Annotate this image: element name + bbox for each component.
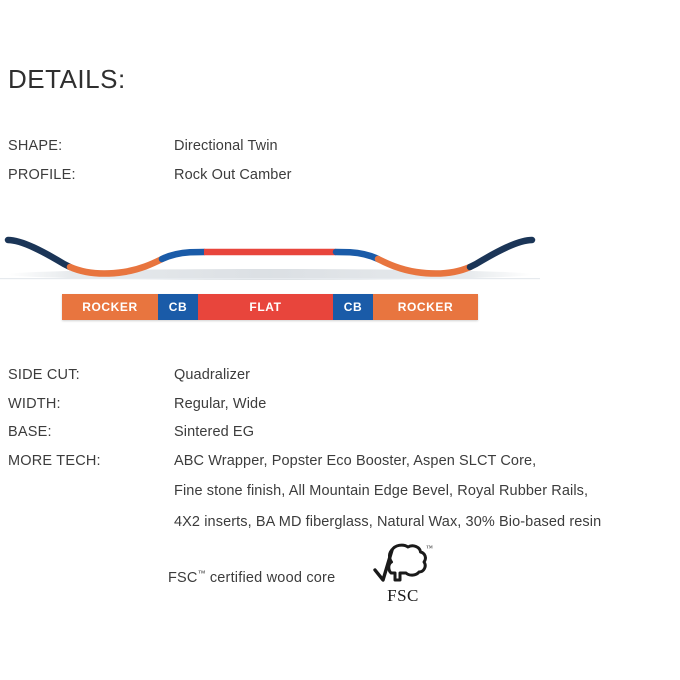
spec-label-shape: SHAPE:	[8, 137, 174, 157]
fsc-logo: ™ FSC	[371, 542, 435, 606]
more-tech-line-1: ABC Wrapper, Popster Eco Booster, Aspen …	[174, 452, 601, 472]
spec-value-more-tech: ABC Wrapper, Popster Eco Booster, Aspen …	[174, 452, 601, 533]
spec-row-profile: PROFILE: Rock Out Camber	[8, 166, 668, 186]
spec-row-side-cut: SIDE CUT: Quadralizer	[8, 366, 678, 386]
fsc-logo-trademark: ™	[426, 544, 433, 552]
spec-list-bottom: SIDE CUT: Quadralizer WIDTH: Regular, Wi…	[8, 366, 678, 541]
legend-segment-rocker-left: ROCKER	[62, 294, 158, 320]
board-profile-graphic	[0, 212, 540, 292]
more-tech-line-2: Fine stone finish, All Mountain Edge Bev…	[174, 482, 601, 502]
spec-value-base: Sintered EG	[174, 423, 254, 443]
trademark-symbol: ™	[198, 569, 206, 578]
legend-segment-flat: FLAT	[198, 294, 333, 320]
legend-segment-cb-left: CB	[158, 294, 198, 320]
fsc-label: FSC™ certified wood core	[168, 569, 335, 586]
spec-list-top: SHAPE: Directional Twin PROFILE: Rock Ou…	[8, 137, 668, 194]
page-title: DETAILS:	[8, 66, 126, 92]
board-camber-right	[336, 252, 378, 259]
legend-segment-rocker-right: ROCKER	[373, 294, 478, 320]
spec-value-width: Regular, Wide	[174, 395, 266, 415]
spec-label-profile: PROFILE:	[8, 166, 174, 186]
spec-label-more-tech: MORE TECH:	[8, 452, 174, 472]
spec-label-side-cut: SIDE CUT:	[8, 366, 174, 386]
more-tech-line-3: 4X2 inserts, BA MD fiberglass, Natural W…	[174, 513, 601, 533]
spec-value-profile: Rock Out Camber	[174, 166, 292, 186]
spec-label-width: WIDTH:	[8, 395, 174, 415]
fsc-logo-wordmark: FSC	[387, 586, 419, 605]
fsc-certification: FSC™ certified wood core ™ FSC	[168, 548, 435, 606]
board-profile-svg	[0, 212, 540, 292]
legend-segment-cb-right: CB	[333, 294, 373, 320]
board-camber-left	[162, 252, 204, 259]
spec-row-width: WIDTH: Regular, Wide	[8, 395, 678, 415]
fsc-label-suffix: certified wood core	[206, 569, 336, 585]
fsc-label-prefix: FSC	[168, 569, 198, 585]
board-tip-left	[8, 240, 70, 267]
spec-value-side-cut: Quadralizer	[174, 366, 250, 386]
details-page: DETAILS: SHAPE: Directional Twin PROFILE…	[0, 0, 680, 680]
spec-label-base: BASE:	[8, 423, 174, 443]
spec-row-shape: SHAPE: Directional Twin	[8, 137, 668, 157]
ground-line	[0, 278, 540, 279]
fsc-tree-outline	[389, 545, 426, 580]
spec-row-base: BASE: Sintered EG	[8, 423, 678, 443]
spec-row-more-tech: MORE TECH: ABC Wrapper, Popster Eco Boos…	[8, 452, 678, 533]
fsc-tree-checkmark-icon: ™ FSC	[371, 542, 435, 606]
spec-value-shape: Directional Twin	[174, 137, 278, 157]
board-tip-right	[470, 240, 532, 267]
profile-legend-bar: ROCKER CB FLAT CB ROCKER	[62, 294, 478, 320]
